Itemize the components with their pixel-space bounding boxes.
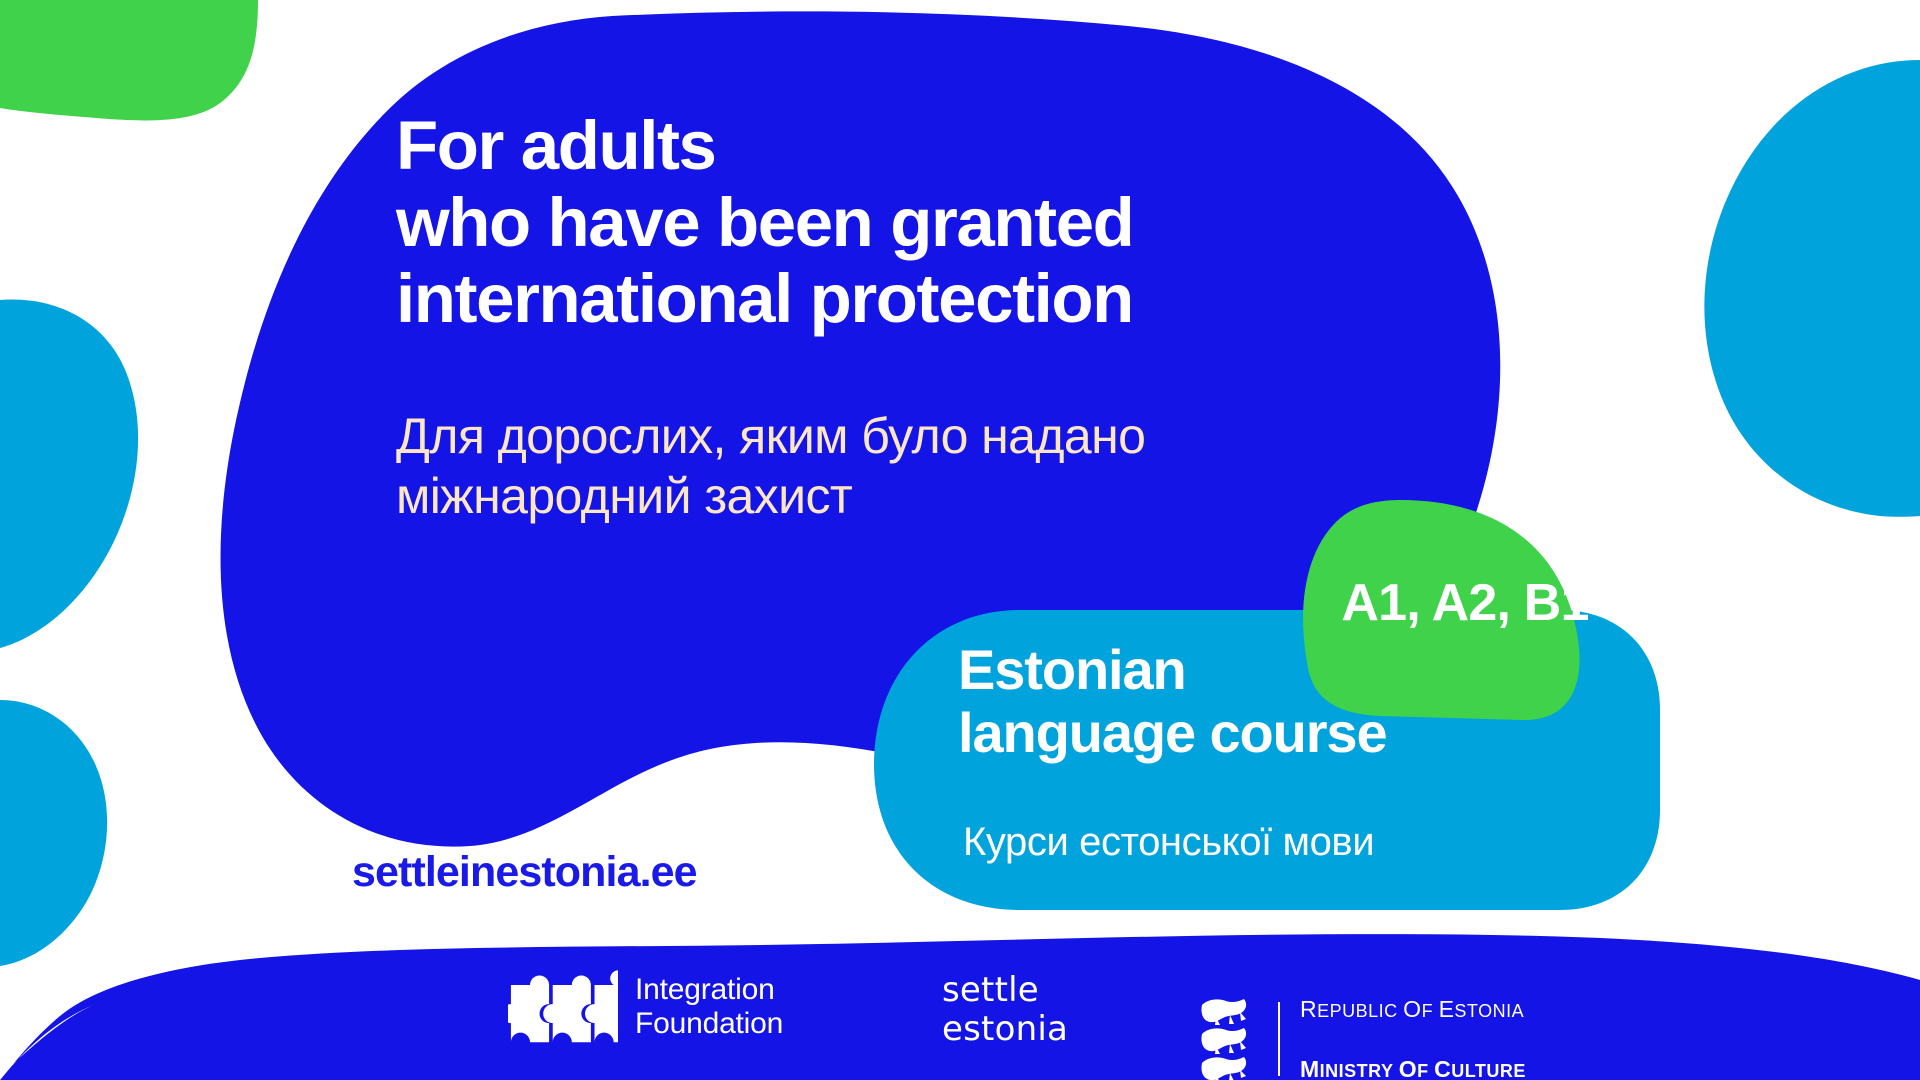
footer-logo-row: Integration Foundation settle estonia xyxy=(0,955,1920,1080)
course-title-ukrainian: Курси естонської мови xyxy=(963,820,1663,865)
cyan-blob-left xyxy=(0,300,138,648)
headline-english: For adults who have been granted interna… xyxy=(396,108,1456,338)
logo-integration-foundation[interactable]: Integration Foundation xyxy=(508,963,783,1051)
ministry-line-department: MINISTRY OF CULTURE xyxy=(1300,1053,1526,1080)
integration-foundation-label: Integration Foundation xyxy=(635,973,783,1040)
cyan-blob-lower-left xyxy=(0,700,107,966)
logo-ministry-of-culture[interactable]: REPUBLIC OF ESTONIA MINISTRY OF CULTURE xyxy=(1196,967,1526,1080)
estonia-coat-of-arms-icon xyxy=(1196,995,1258,1080)
settle-estonia-label: settle estonia xyxy=(942,971,1068,1050)
ministry-line-country: REPUBLIC OF ESTONIA xyxy=(1300,993,1526,1026)
website-url[interactable]: settleinestonia.ee xyxy=(352,848,697,897)
course-title-english: Estonian language course xyxy=(958,639,1638,764)
logo-settle-estonia[interactable]: settle estonia xyxy=(942,971,1068,1050)
ministry-of-culture-label: REPUBLIC OF ESTONIA MINISTRY OF CULTURE xyxy=(1300,967,1526,1080)
poster-canvas: For adults who have been granted interna… xyxy=(0,0,1920,1080)
logo-divider xyxy=(1278,1002,1280,1076)
language-levels-badge: A1, A2, B1 xyxy=(1305,573,1625,633)
puzzle-pieces-icon xyxy=(508,963,618,1051)
headline-ukrainian: Для дорослих, яким було надано міжнародн… xyxy=(396,406,1496,526)
cyan-blob-right xyxy=(1704,60,1920,517)
green-blob-top-left xyxy=(0,0,258,120)
